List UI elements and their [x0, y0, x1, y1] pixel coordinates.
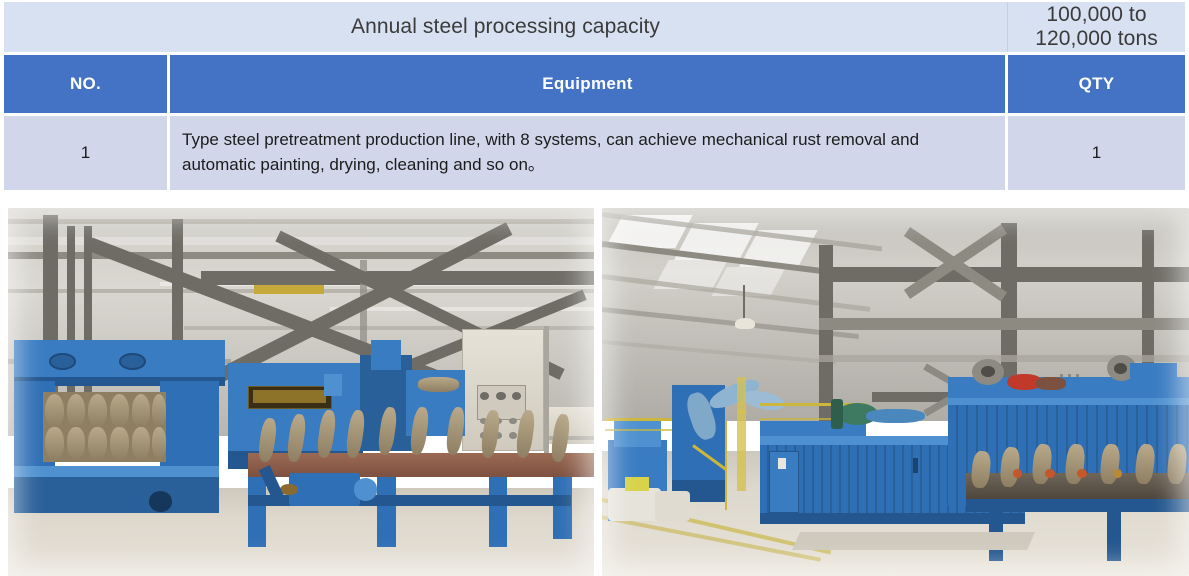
photo-shot-blasting-painting-line	[602, 208, 1189, 576]
cell-qty: 1	[1008, 116, 1185, 190]
photo-steel-plate-leveller-line	[8, 208, 594, 576]
table-header-row: NO. Equipment QTY	[4, 55, 1185, 113]
table-row: 1 Type steel pretreatment production lin…	[4, 116, 1185, 190]
column-header-equipment: Equipment	[170, 55, 1008, 113]
annual-capacity-value: 100,000 to 120,000 tons	[1008, 2, 1185, 52]
photo-gallery	[0, 208, 1189, 576]
annual-capacity-label: Annual steel processing capacity	[4, 2, 1008, 52]
column-header-no: NO.	[4, 55, 170, 113]
equipment-spec-table: Annual steel processing capacity 100,000…	[4, 2, 1185, 190]
column-header-qty: QTY	[1008, 55, 1185, 113]
spec-sheet-page: Annual steel processing capacity 100,000…	[0, 0, 1189, 576]
table-title-row: Annual steel processing capacity 100,000…	[4, 2, 1185, 52]
cell-no: 1	[4, 116, 170, 190]
cell-equipment-description: Type steel pretreatment production line,…	[170, 116, 1008, 190]
